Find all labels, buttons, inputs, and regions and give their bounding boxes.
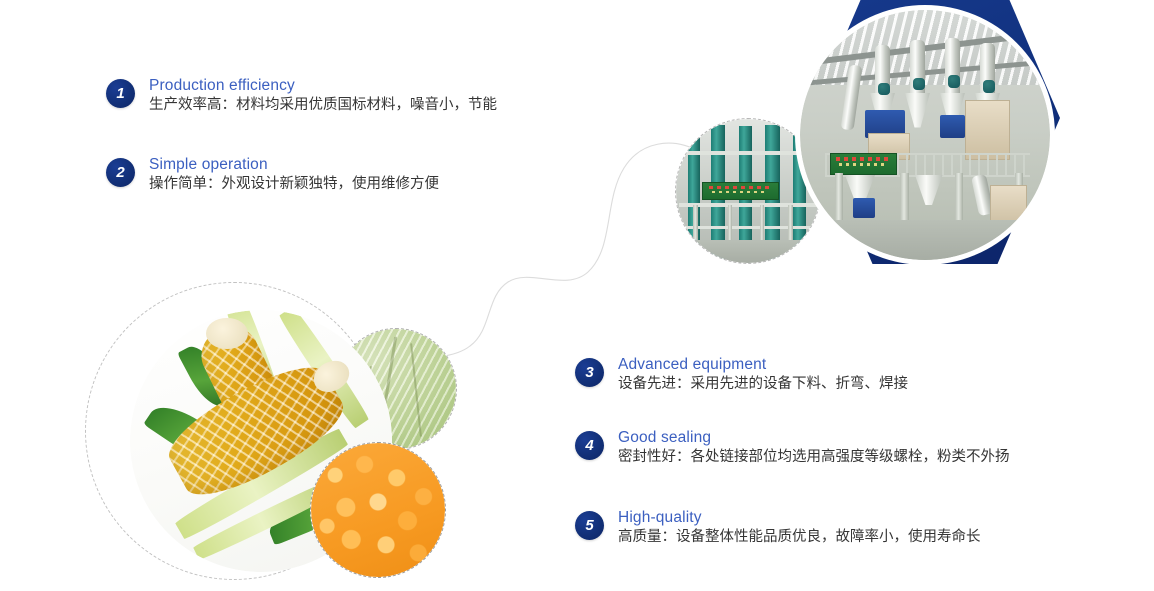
hexagon-photo-cluster [660,0,1154,275]
feature-description-3: 设备先进：采用先进的设备下料、折弯、焊接 [618,374,908,395]
feature-badge-5: 5 [575,511,604,540]
feature-text-3: Advanced equipment 设备先进：采用先进的设备下料、折弯、焊接 [618,355,908,395]
feature-text-5: High-quality 高质量：设备整体性能品质优良，故障率小，使用寿命长 [618,508,981,548]
corn-photo-cluster [85,280,485,591]
feature-description-5: 高质量：设备整体性能品质优良，故障率小，使用寿命长 [618,527,981,548]
infographic-canvas: 1 Production efficiency 生产效率高：材料均采用优质国标材… [0,0,1154,591]
feature-text-2: Simple operation 操作简单：外观设计新颖独特，使用维修方便 [149,155,439,195]
feature-item-5[interactable]: 5 High-quality 高质量：设备整体性能品质优良，故障率小，使用寿命长 [575,508,981,548]
feature-description-1: 生产效率高：材料均采用优质国标材料，噪音小，节能 [149,95,497,116]
feature-item-1[interactable]: 1 Production efficiency 生产效率高：材料均采用优质国标材… [106,76,497,116]
feature-title-3: Advanced equipment [618,355,908,374]
feature-title-1: Production efficiency [149,76,497,95]
feature-text-1: Production efficiency 生产效率高：材料均采用优质国标材料，… [149,76,497,116]
orange-corn-kernels-image [311,443,445,577]
orange-corn-kernels-photo [310,442,446,578]
feature-badge-3: 3 [575,358,604,387]
feature-badge-1: 1 [106,79,135,108]
feature-item-3[interactable]: 3 Advanced equipment 设备先进：采用先进的设备下料、折弯、焊… [575,355,908,395]
feature-text-4: Good sealing 密封性好：各处链接部位均选用高强度等级螺栓，粉类不外扬 [618,428,1010,468]
feature-item-4[interactable]: 4 Good sealing 密封性好：各处链接部位均选用高强度等级螺栓，粉类不… [575,428,1010,468]
flour-mill-plant-photo [800,10,1050,260]
green-mill-machinery-image [676,119,820,263]
feature-title-2: Simple operation [149,155,439,174]
feature-badge-4: 4 [575,431,604,460]
feature-title-5: High-quality [618,508,981,527]
feature-title-4: Good sealing [618,428,1010,447]
flour-mill-plant-image [800,10,1050,260]
feature-description-4: 密封性好：各处链接部位均选用高强度等级螺栓，粉类不外扬 [618,447,1010,468]
feature-item-2[interactable]: 2 Simple operation 操作简单：外观设计新颖独特，使用维修方便 [106,155,439,195]
feature-description-2: 操作简单：外观设计新颖独特，使用维修方便 [149,174,439,195]
feature-badge-2: 2 [106,158,135,187]
